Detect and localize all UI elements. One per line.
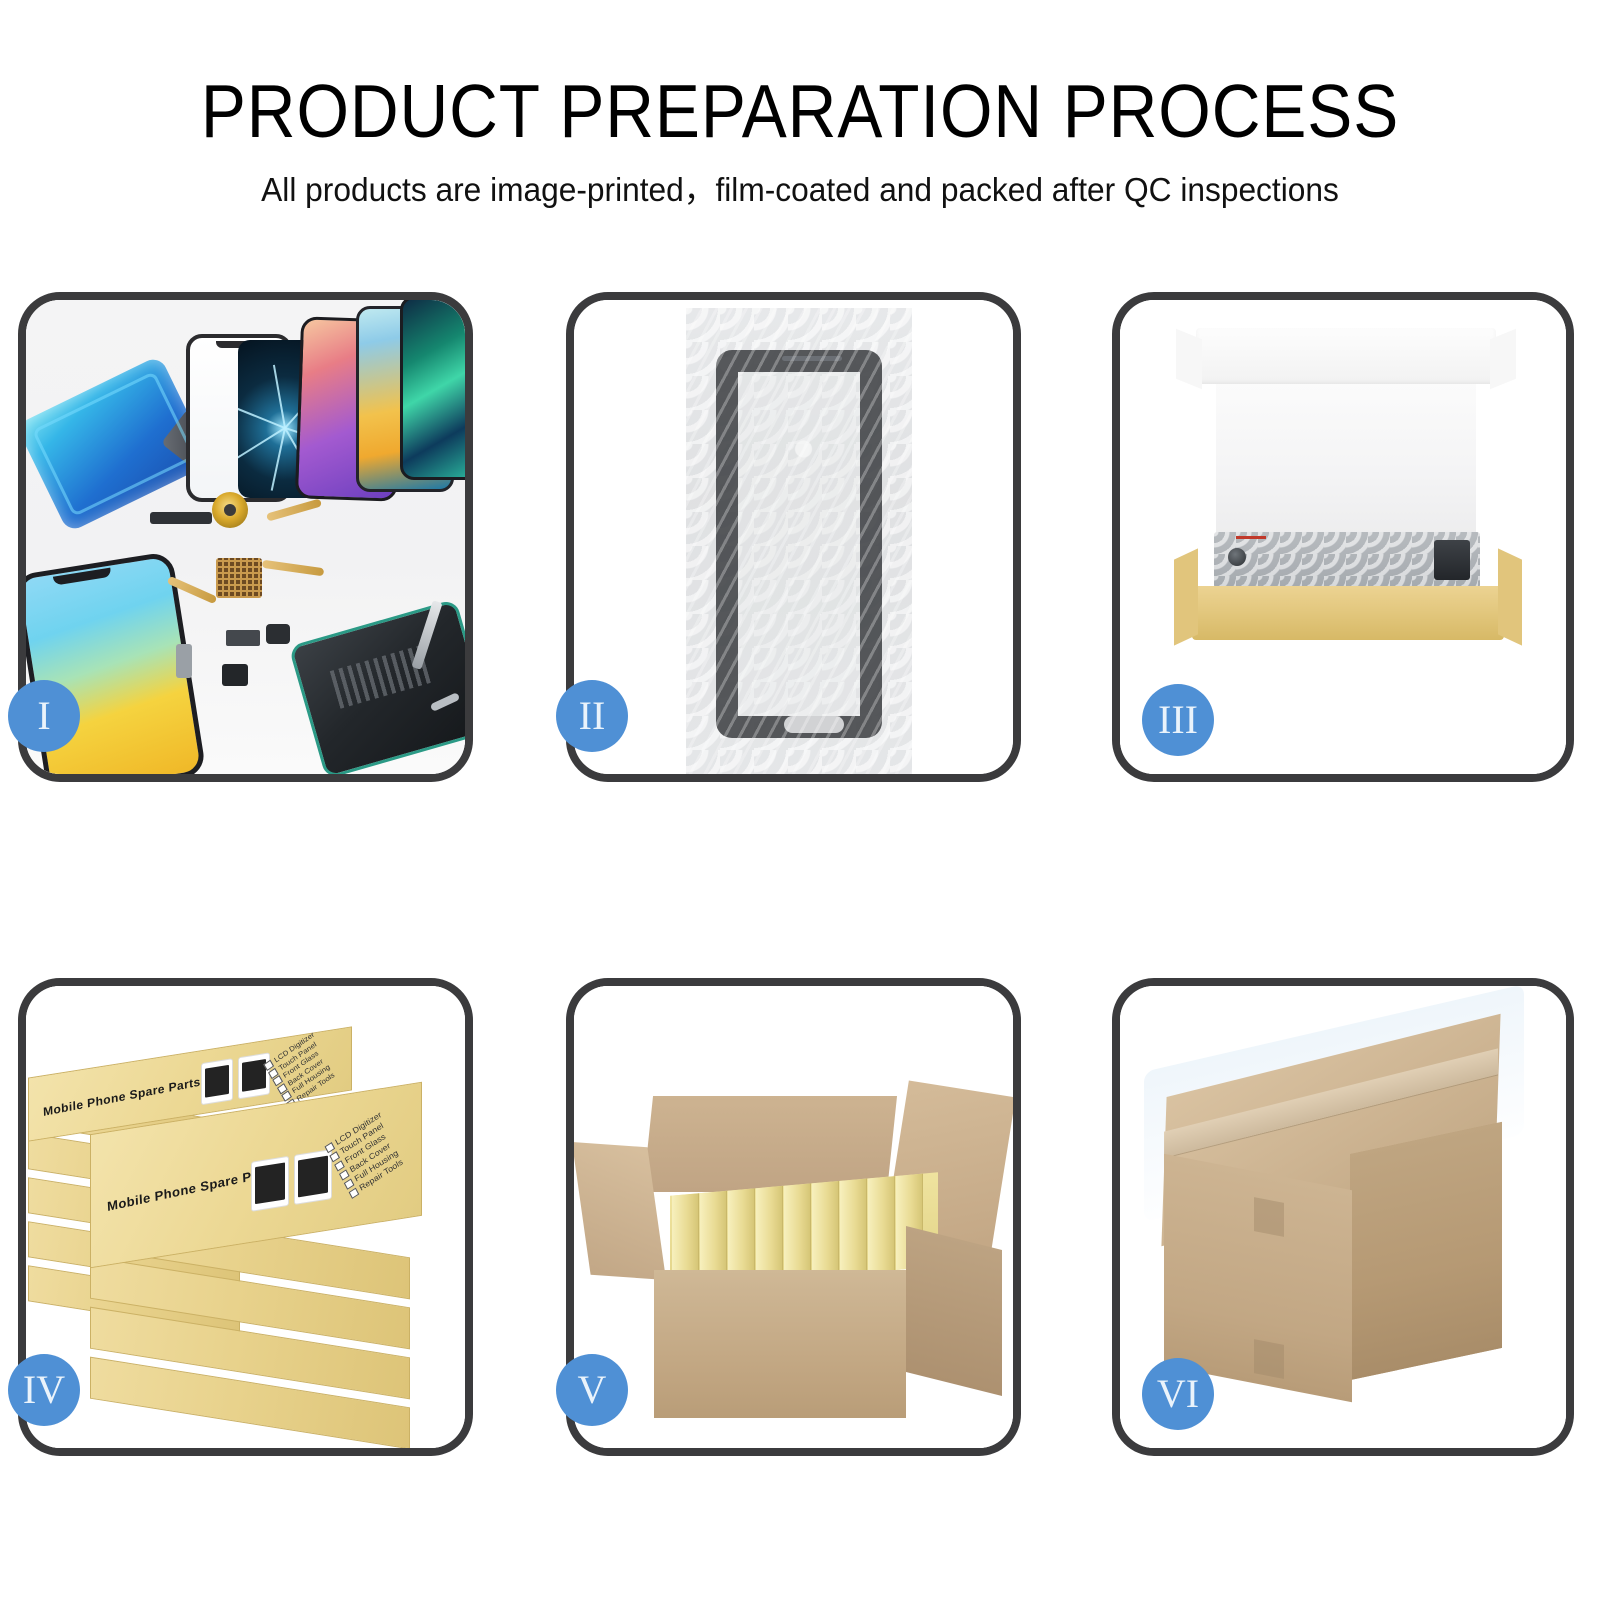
open-carton-photo	[574, 986, 1013, 1448]
process-step-card-1[interactable]: I	[18, 292, 473, 782]
step-4-image: Mobile Phone Spare Parts LCD Digitizer T…	[26, 986, 465, 1448]
speaker-module-part	[150, 512, 212, 524]
battery-connector-part	[226, 630, 260, 646]
red-label-strip	[1236, 536, 1266, 539]
process-step-card-5[interactable]: V	[566, 978, 1021, 1456]
step-badge-2: II	[556, 680, 628, 752]
product-photo	[251, 1156, 289, 1212]
step-badge-1: I	[8, 680, 80, 752]
stacked-retail-boxes-photo: Mobile Phone Spare Parts LCD Digitizer T…	[26, 986, 465, 1448]
process-step-grid: I II III	[18, 292, 1574, 1572]
wrapped-screen-in-box	[1214, 532, 1480, 588]
teal-display-phone	[400, 300, 465, 480]
product-photo	[201, 1058, 233, 1105]
carton-right-panel	[1350, 1122, 1502, 1380]
step-2-image	[574, 300, 1013, 774]
camera-module-part	[266, 624, 290, 644]
step-badge-3: III	[1142, 684, 1214, 756]
parts-collage-photo	[26, 300, 465, 774]
page-header: PRODUCT PREPARATION PROCESS All products…	[0, 0, 1600, 206]
process-step-card-6[interactable]: VI	[1112, 978, 1574, 1456]
wireless-charging-coil-part	[212, 492, 248, 528]
motherboard-part	[288, 599, 465, 774]
step-badge-6: VI	[1142, 1358, 1214, 1430]
vibration-motor-part	[222, 664, 248, 686]
process-step-card-3[interactable]: III	[1112, 292, 1574, 782]
step-5-image	[574, 986, 1013, 1448]
step-1-image	[26, 300, 465, 774]
box-lid-flap	[1196, 328, 1496, 384]
process-step-card-4[interactable]: Mobile Phone Spare Parts LCD Digitizer T…	[18, 978, 473, 1456]
blue-adhesive-frame-part	[26, 355, 212, 533]
volume-flex-cable-part	[262, 560, 325, 577]
carton-front-panel	[654, 1270, 906, 1418]
ic-chip-part	[216, 558, 262, 598]
carton-flap-tab-upper	[1254, 1197, 1284, 1237]
bubble-wrap-photo	[686, 308, 912, 774]
product-photo	[294, 1149, 332, 1205]
step-badge-4: IV	[8, 1354, 80, 1426]
page-subtitle: All products are image-printed，film-coat…	[32, 149, 1568, 206]
step-badge-5: V	[556, 1354, 628, 1426]
camera-hole	[1228, 548, 1246, 566]
carton-side-panel	[906, 1226, 1002, 1396]
box-front-panel	[1192, 586, 1504, 640]
process-step-card-2[interactable]: II	[566, 292, 1021, 782]
product-photo	[238, 1052, 270, 1099]
carton-back-flap	[643, 1096, 897, 1192]
page-title: PRODUCT PREPARATION PROCESS	[80, 0, 1520, 149]
wrapped-screen-frame	[716, 350, 882, 738]
carton-flap-tab-lower	[1254, 1339, 1284, 1379]
screen-connector	[1434, 540, 1470, 580]
box-inner-wall	[1216, 384, 1476, 534]
sim-tray-part	[176, 644, 192, 678]
